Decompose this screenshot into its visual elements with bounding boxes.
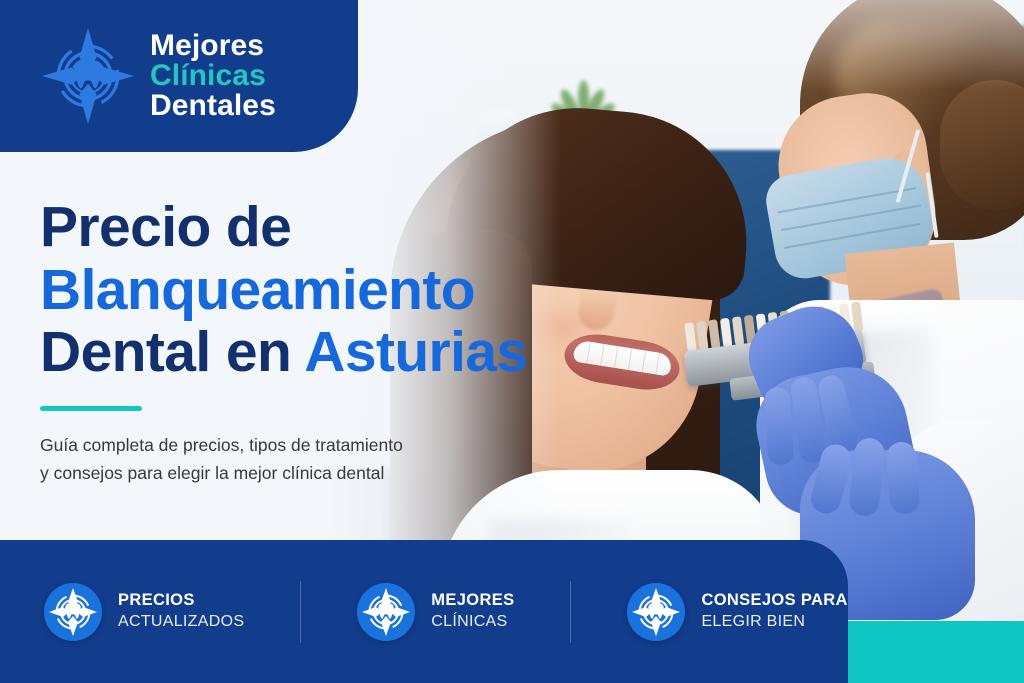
headline-block: Precio de Blanqueamiento Dental en Astur… (40, 196, 528, 488)
brand-wordmark: Mejores Clínicas Dentales (150, 31, 276, 121)
headline-line-3: Dental en (40, 320, 304, 384)
brand-line-3: Dentales (150, 91, 276, 121)
feature-item-mejores-clinicas[interactable]: MEJORES CLÍNICAS (357, 583, 514, 641)
subtitle: Guía completa de precios, tipos de trata… (40, 431, 528, 488)
accent-divider (40, 406, 142, 411)
photo-top-fade (330, 0, 1024, 90)
feature-subtitle: ELEGIR BIEN (701, 612, 847, 633)
feature-text: PRECIOS ACTUALIZADOS (118, 590, 244, 632)
brand-line-2: Clínicas (150, 61, 276, 91)
page-title: Precio de Blanqueamiento Dental en Astur… (40, 196, 528, 384)
feature-text: MEJORES CLÍNICAS (431, 590, 514, 632)
teal-corner-block (820, 621, 1024, 683)
feature-item-consejos[interactable]: CONSEJOS PARA ELEGIR BIEN (627, 583, 847, 641)
headline-line-1: Precio de (40, 195, 291, 259)
feature-subtitle: ACTUALIZADOS (118, 612, 244, 633)
feature-title: CONSEJOS PARA (701, 590, 847, 611)
brand-header: Mejores Clínicas Dentales (0, 0, 358, 152)
headline-line-2: Blanqueamiento (40, 258, 475, 322)
feature-list: PRECIOS ACTUALIZADOS (0, 540, 848, 683)
compass-tooth-badge-icon (627, 583, 685, 641)
subtitle-line-1: Guía completa de precios, tipos de trata… (40, 431, 528, 459)
patient-teeth (573, 340, 673, 377)
feature-title: MEJORES (431, 590, 514, 611)
brand-line-1: Mejores (150, 31, 276, 61)
dental-whitening-price-banner: Mejores Clínicas Dentales Precio de Blan… (0, 0, 1024, 683)
compass-tooth-badge-icon (44, 583, 102, 641)
headline-line-3-accent: Asturias (304, 320, 527, 384)
compass-tooth-logo-icon (40, 26, 136, 126)
feature-title: PRECIOS (118, 590, 244, 611)
feature-item-precios[interactable]: PRECIOS ACTUALIZADOS (44, 583, 244, 641)
feature-text: CONSEJOS PARA ELEGIR BIEN (701, 590, 847, 632)
logo-lockup[interactable]: Mejores Clínicas Dentales (40, 26, 276, 126)
dentist-hair-bun (940, 80, 1024, 210)
feature-bar: PRECIOS ACTUALIZADOS (0, 540, 848, 683)
subtitle-line-2: y consejos para elegir la mejor clínica … (40, 459, 528, 487)
feature-divider-2 (570, 581, 571, 643)
feature-divider-1 (300, 581, 301, 643)
feature-subtitle: CLÍNICAS (431, 612, 514, 633)
compass-tooth-badge-icon (357, 583, 415, 641)
